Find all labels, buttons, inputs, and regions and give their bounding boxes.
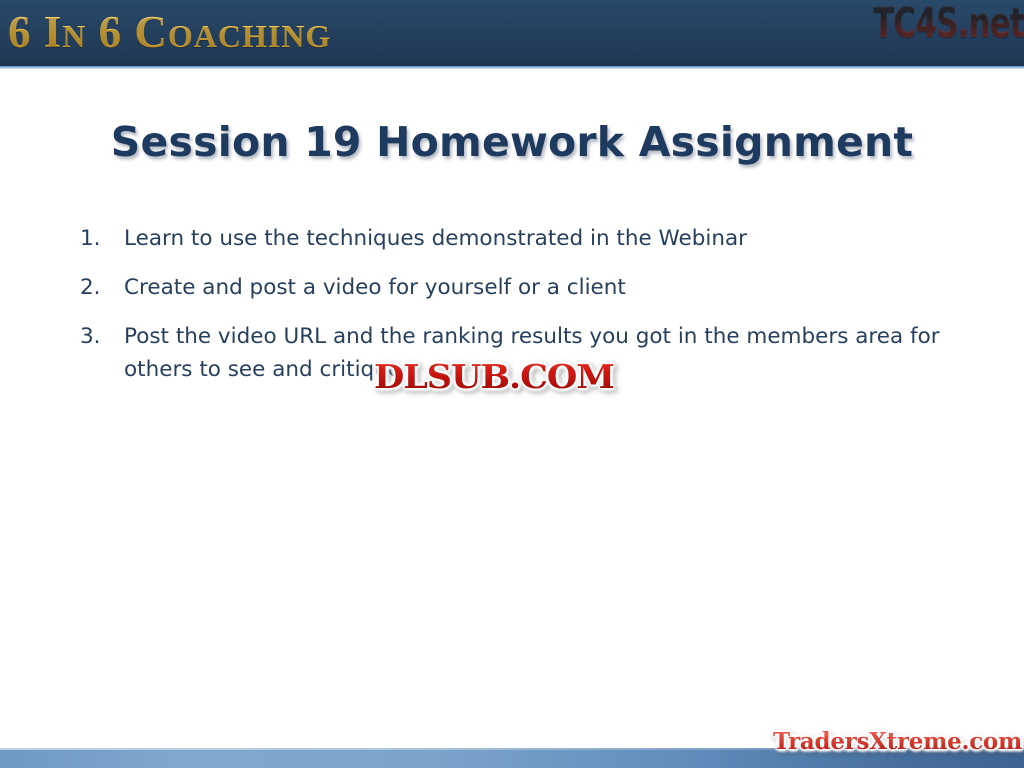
list-item: 2. Create and post a video for yourself … — [78, 271, 958, 304]
list-item: 1. Learn to use the techniques demonstra… — [78, 222, 958, 255]
list-item-number: 3. — [78, 320, 124, 353]
dlsub-watermark: DLSUB.COM — [374, 357, 614, 396]
list-item-number: 2. — [78, 271, 124, 304]
tradersxtreme-watermark: TradersXtreme.com — [773, 728, 1022, 755]
header-band: 6 In 6 Coaching TC4S.net — [0, 0, 1024, 69]
list-item-number: 1. — [78, 222, 124, 255]
page-title: Session 19 Homework Assignment — [0, 118, 1024, 166]
brand-logo: 6 In 6 Coaching — [8, 6, 331, 58]
list-item-label: Learn to use the techniques demonstrated… — [124, 222, 956, 255]
site-watermark-tc4s: TC4S.net — [873, 0, 1024, 47]
slide-canvas: 6 In 6 Coaching TC4S.net Session 19 Home… — [0, 0, 1024, 768]
list-item-label: Create and post a video for yourself or … — [124, 271, 956, 304]
